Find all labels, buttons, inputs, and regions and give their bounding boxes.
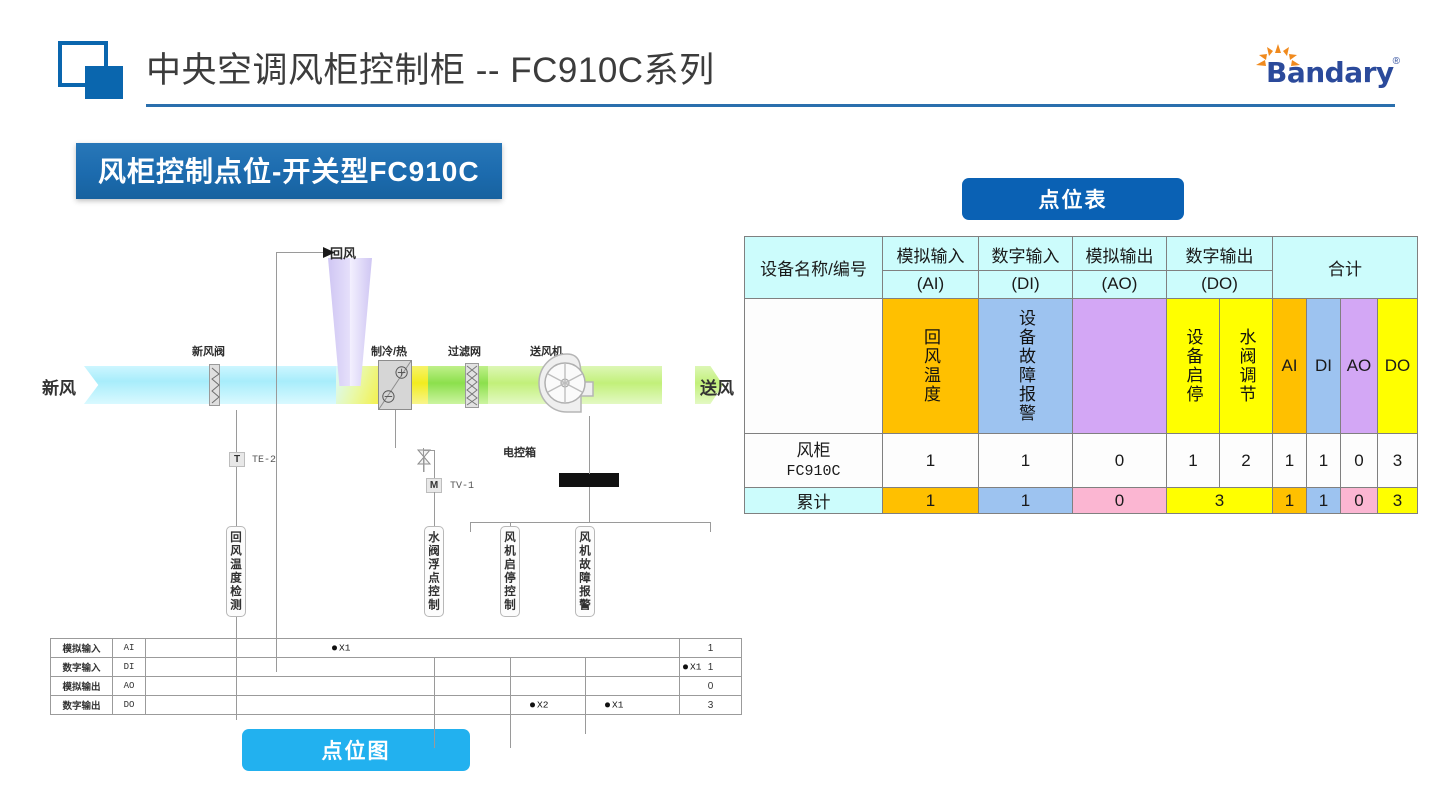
point-name-water-valve-text: 水阀调节 <box>1237 328 1256 404</box>
device-total-ai: 1 <box>1273 434 1307 488</box>
header-group-ao-split: 模拟输出 (AO) <box>1073 239 1166 297</box>
point-name-return-temp-text: 回风温度 <box>921 328 940 404</box>
header-group-di-bottom: (DI) <box>979 271 1072 297</box>
signal-row-track: X1 <box>146 639 680 658</box>
return-duct-left-face <box>328 258 350 386</box>
point-chip-fan-fault-alarm: 风机故障报警 <box>575 526 595 617</box>
point-name-device-fault: 设备故障报警 <box>979 299 1073 434</box>
header-device-name: 设备名称/编号 <box>745 237 883 299</box>
device-value-di: 1 <box>979 434 1073 488</box>
cumulative-di: 1 <box>979 488 1073 514</box>
signal-row-name: 数字输出 <box>51 696 113 715</box>
table-row: 模拟输入 AI X1 1 <box>51 639 742 658</box>
table-row: 模拟输出 AO 0 <box>51 677 742 696</box>
header-group-ai-top: 模拟输入 <box>883 239 978 271</box>
signal-row-track: X1 <box>146 658 680 677</box>
tag-M: M <box>426 478 442 493</box>
device-value-ai: 1 <box>883 434 979 488</box>
device-value-do-valve: 2 <box>1220 434 1273 488</box>
point-chip-valve-control: 水阀浮点控制 <box>424 526 444 617</box>
slide-page: 中央空调风柜控制柜 -- FC910C系列 Bandary ® 风柜控制点位-开… <box>0 0 1442 801</box>
cumulative-ai: 1 <box>883 488 979 514</box>
header-group-ao-top: 模拟输出 <box>1073 239 1166 271</box>
table-row: 风柜 FC910C 1 1 0 1 2 1 1 0 3 <box>745 434 1418 488</box>
return-air-duct <box>328 258 372 386</box>
label-supply-air: 送风 <box>700 374 734 399</box>
summary-col-ai: AI <box>1273 299 1307 434</box>
signal-row-track: X2 X1 <box>146 696 680 715</box>
device-total-do: 3 <box>1378 434 1418 488</box>
tag-T: T <box>229 452 245 467</box>
header-group-do: 数字输出 (DO) <box>1167 237 1273 299</box>
signal-row-name: 模拟输入 <box>51 639 113 658</box>
point-name-device-start-stop: 设备启停 <box>1167 299 1220 434</box>
header-group-ai-split: 模拟输入 (AI) <box>883 239 978 297</box>
device-model: FC910C <box>745 461 882 482</box>
tag-code-TE-2: TE-2 <box>252 455 276 466</box>
cumulative-total-di: 1 <box>1307 488 1341 514</box>
signal-row-code: AO <box>113 677 146 696</box>
header-group-ai: 模拟输入 (AI) <box>883 237 979 299</box>
header-group-di-top: 数字输入 <box>979 239 1072 271</box>
header-group-ao: 模拟输出 (AO) <box>1073 237 1167 299</box>
device-name-cell: 风柜 FC910C <box>745 434 883 488</box>
point-name-return-temp: 回风温度 <box>883 299 979 434</box>
header-group-ao-bottom: (AO) <box>1073 271 1166 297</box>
summary-col-do: DO <box>1378 299 1418 434</box>
label-coil: 制冷/热 <box>371 343 407 359</box>
filter-icon <box>465 363 479 408</box>
wire-valve-to-chip <box>434 492 435 530</box>
signal-row-total: 0 <box>680 677 742 696</box>
wire-box-bus <box>470 522 710 523</box>
point-name-row: 回风温度 设备故障报警 设备启停 水阀调节 AI DI AO DO <box>745 299 1418 434</box>
section-banner: 风柜控制点位-开关型FC910C <box>76 143 502 199</box>
cumulative-label: 累计 <box>745 488 883 514</box>
label-control-box: 电控箱 <box>503 444 536 460</box>
device-total-ao: 0 <box>1341 434 1378 488</box>
point-name-water-valve: 水阀调节 <box>1220 299 1273 434</box>
signal-row-total: 1 <box>680 639 742 658</box>
return-duct-right-face <box>350 258 372 386</box>
cumulative-total-ao: 0 <box>1341 488 1378 514</box>
signal-row-name: 模拟输出 <box>51 677 113 696</box>
cooling-heating-coil-icon <box>378 360 412 410</box>
cumulative-row: 累计 1 1 0 3 1 1 0 3 <box>745 488 1418 514</box>
wire-branch-left <box>470 522 471 532</box>
return-air-arrow-icon <box>323 245 339 260</box>
brand-name: Bandary <box>1266 56 1394 89</box>
cumulative-total-do: 3 <box>1378 488 1418 514</box>
header-divider <box>146 104 1395 107</box>
fresh-air-inlet-arrow <box>84 366 110 404</box>
signal-table-body: 模拟输入 AI X1 1 数字输入 DI X1 1 模拟输出 AO 0 <box>51 639 742 715</box>
point-table-header-row: 设备名称/编号 模拟输入 (AI) 数字输入 (DI) 模拟输出 <box>745 237 1418 299</box>
wire-branch-right <box>710 522 711 532</box>
duct-fresh-air <box>108 366 268 404</box>
point-table-body: 设备名称/编号 模拟输入 (AI) 数字输入 (DI) 模拟输出 <box>745 237 1418 514</box>
header-group-di-split: 数字输入 (DI) <box>979 239 1072 297</box>
point-name-device-fault-text: 设备故障报警 <box>1016 309 1035 423</box>
point-name-device-start-stop-text: 设备启停 <box>1184 328 1203 404</box>
signal-row-name: 数字输入 <box>51 658 113 677</box>
signal-row-total: 3 <box>680 696 742 715</box>
device-value-ao: 0 <box>1073 434 1167 488</box>
header-group-do-split: 数字输出 (DO) <box>1167 239 1272 297</box>
table-row: 数字输入 DI X1 1 <box>51 658 742 677</box>
cumulative-total-ai: 1 <box>1273 488 1307 514</box>
point-name-ao-empty <box>1073 299 1167 434</box>
header-total: 合计 <box>1273 237 1418 299</box>
badge-point-diagram: 点位图 <box>242 729 470 771</box>
control-box-icon <box>559 473 619 487</box>
logo-filled-square <box>85 66 123 99</box>
device-total-di: 1 <box>1307 434 1341 488</box>
signal-row-code: AI <box>113 639 146 658</box>
signal-summary-table: 模拟输入 AI X1 1 数字输入 DI X1 1 模拟输出 AO 0 <box>50 638 742 715</box>
wire-box-down <box>589 487 590 522</box>
duct-fresh-air-2 <box>268 366 336 404</box>
device-name: 风柜 <box>745 440 882 461</box>
square-logo-icon <box>58 41 124 96</box>
header-group-do-bottom: (DO) <box>1167 271 1272 297</box>
point-chip-fan-start-stop: 风机启停控制 <box>500 526 520 617</box>
signal-row-code: DO <box>113 696 146 715</box>
header-group-di: 数字输入 (DI) <box>979 237 1073 299</box>
badge-point-table: 点位表 <box>962 178 1184 220</box>
wire-fan-to-box <box>589 416 590 474</box>
label-fresh-air-damper: 新风阀 <box>192 343 225 359</box>
wire-return-temp <box>276 252 277 672</box>
wire-valve-stem <box>423 448 424 472</box>
signal-row-track <box>146 677 680 696</box>
signal-point: X1 <box>332 642 350 653</box>
duct-filter-section <box>428 366 488 404</box>
signal-point: X1 <box>683 661 701 672</box>
page-title: 中央空调风柜控制柜 -- FC910C系列 <box>146 42 715 93</box>
brand-logo: Bandary ® <box>1248 44 1398 94</box>
table-row: 数字输出 DO X2 X1 3 <box>51 696 742 715</box>
header-group-ai-bottom: (AI) <box>883 271 978 297</box>
label-fresh-air: 新风 <box>42 374 76 399</box>
point-table: 设备名称/编号 模拟输入 (AI) 数字输入 (DI) 模拟输出 <box>744 236 1418 514</box>
wire-return-temp-branch <box>276 252 326 253</box>
point-chip-return-temp: 回风温度检测 <box>226 526 246 617</box>
signal-point: X2 <box>530 699 548 710</box>
signal-row-code: DI <box>113 658 146 677</box>
supply-fan-icon <box>537 352 601 416</box>
summary-col-di: DI <box>1307 299 1341 434</box>
label-filter: 过滤网 <box>448 343 481 359</box>
cumulative-do: 3 <box>1167 488 1273 514</box>
tag-code-TV-1: TV-1 <box>450 481 474 492</box>
damper-icon <box>209 364 220 406</box>
summary-col-ao: AO <box>1341 299 1378 434</box>
device-value-do-start-stop: 1 <box>1167 434 1220 488</box>
brand-registered-mark: ® <box>1393 56 1400 67</box>
signal-point: X1 <box>605 699 623 710</box>
point-name-blank <box>745 299 883 434</box>
cumulative-ao: 0 <box>1073 488 1167 514</box>
water-valve-icon <box>416 448 432 474</box>
header-group-do-top: 数字输出 <box>1167 239 1272 271</box>
wire-coil-out <box>395 410 396 448</box>
